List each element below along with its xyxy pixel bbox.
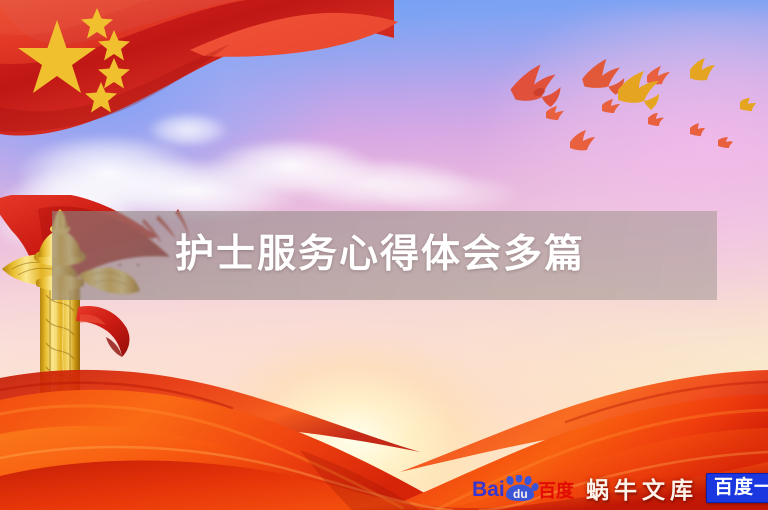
svg-text:Bai: Bai	[472, 478, 505, 501]
watermark-bar: Bai du 百度 蜗牛文库 百度一下	[472, 470, 768, 506]
svg-text:du: du	[513, 487, 528, 501]
page-title: 护士服务心得体会多篇	[175, 232, 695, 278]
svg-text:百度: 百度	[538, 480, 575, 501]
china-flag-icon	[0, 0, 414, 175]
watermark-brand-label: 蜗牛文库	[584, 471, 698, 505]
baidu-logo-icon[interactable]: Bai du 百度	[472, 475, 576, 501]
poster-canvas: 护士服务心得体会多篇 Bai du 百度 蜗牛文库 百度一下	[0, 0, 768, 510]
cloud	[369, 173, 523, 214]
flying-birds-icon	[492, 50, 768, 160]
baidu-search-button[interactable]: 百度一下	[706, 473, 768, 503]
